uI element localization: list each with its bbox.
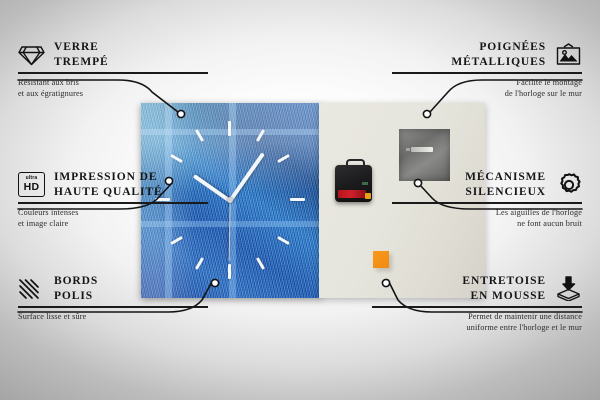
callout-mecanisme-silencieux: MÉCANISME SILENCIEUX Les aiguilles de l'… — [392, 170, 582, 230]
ultra-hd-icon: ultra HD — [18, 171, 45, 198]
callout-divider — [372, 306, 582, 307]
callout-header: ultra HD IMPRESSION DE HAUTE QUALITÉ — [18, 170, 208, 199]
callout-header: VERRE TREMPÉ — [18, 40, 208, 69]
callout-description: Résistant aux bris et aux égratignures — [18, 78, 208, 100]
callout-description: Surface lisse et sûre — [18, 312, 208, 323]
polished-edge-icon — [18, 275, 45, 302]
framed-picture-icon — [555, 41, 582, 68]
callout-poignees-metalliques: POIGNÉES MÉTALLIQUES Facilite le montage… — [392, 40, 582, 100]
callout-divider — [18, 306, 208, 307]
callout-header: POIGNÉES MÉTALLIQUES — [392, 40, 582, 69]
callout-description: Les aiguilles de l'horloge ne font aucun… — [392, 208, 582, 230]
foam-spacer-icon — [555, 275, 582, 302]
connector-dot-poignees — [423, 110, 430, 117]
callout-description: Facilite le montage de l'horloge sur le … — [392, 78, 582, 100]
callout-description: Couleurs intenses et image claire — [18, 208, 208, 230]
connector-dot-bords-polis — [211, 279, 218, 286]
callout-title: BORDS POLIS — [54, 274, 98, 303]
callout-title: VERRE TREMPÉ — [54, 40, 109, 69]
callout-divider — [18, 202, 208, 203]
callout-divider — [392, 72, 582, 73]
callout-header: ENTRETOISE EN MOUSSE — [372, 274, 582, 303]
callout-title: IMPRESSION DE HAUTE QUALITÉ — [54, 170, 163, 199]
infographic-canvas: VERRE TREMPÉ Résistant aux bris et aux é… — [0, 0, 600, 400]
callout-divider — [18, 72, 208, 73]
callout-header: MÉCANISME SILENCIEUX — [392, 170, 582, 199]
callout-title: POIGNÉES MÉTALLIQUES — [451, 40, 546, 69]
callout-description: Permet de maintenir une distance uniform… — [372, 312, 582, 334]
callout-title: MÉCANISME SILENCIEUX — [465, 170, 546, 199]
callout-bords-polis: BORDS POLIS Surface lisse et sûre — [18, 274, 208, 323]
gear-icon — [555, 171, 582, 198]
diamond-icon — [18, 41, 45, 68]
callout-header: BORDS POLIS — [18, 274, 208, 303]
callout-title: ENTRETOISE EN MOUSSE — [462, 274, 546, 303]
callout-impression-haute-qualite: ultra HD IMPRESSION DE HAUTE QUALITÉ Cou… — [18, 170, 208, 230]
callout-entretoise-en-mousse: ENTRETOISE EN MOUSSE Permet de maintenir… — [372, 274, 582, 334]
callout-verre-trempe: VERRE TREMPÉ Résistant aux bris et aux é… — [18, 40, 208, 100]
connector-dot-verre-trempe — [177, 110, 184, 117]
callout-divider — [392, 202, 582, 203]
